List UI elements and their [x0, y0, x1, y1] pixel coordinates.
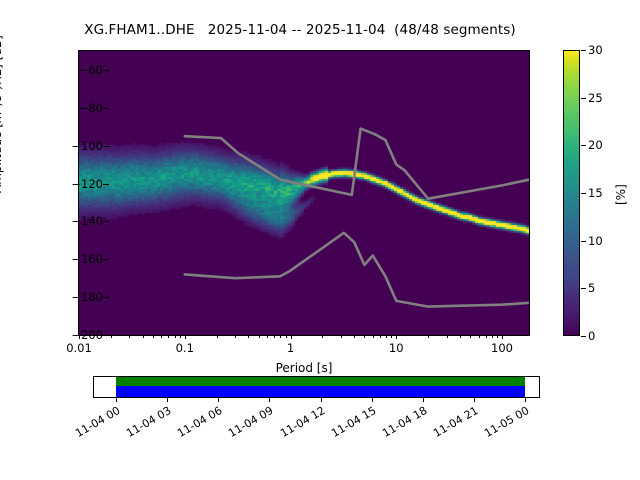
x-axis-minor-tick	[322, 335, 323, 338]
x-axis-minor-tick	[354, 335, 355, 338]
colorbar-tick-label: 25	[588, 91, 603, 105]
x-axis-minor-tick	[217, 335, 218, 338]
colorbar-tick	[581, 145, 586, 146]
y-axis-tick	[103, 146, 109, 147]
colorbar-tick-label: 15	[588, 186, 603, 200]
colorbar-tick	[581, 288, 586, 289]
timeline-tick-label: 11-04 00	[73, 404, 123, 440]
timeline-tick-label: 11-04 09	[226, 404, 276, 440]
x-axis-tick-label: 0.01	[66, 341, 92, 355]
timeline-tick-label: 11-04 21	[431, 404, 481, 440]
x-axis-major-tick	[79, 335, 80, 339]
x-axis-minor-tick	[180, 335, 181, 338]
colorbar-tick	[581, 241, 586, 242]
x-axis-tick-label: 0.1	[176, 341, 194, 355]
y-axis-label: Amplitude [m2/s4/Hz] [dB]	[0, 35, 4, 193]
x-axis-minor-tick	[380, 335, 381, 338]
x-axis-minor-tick	[235, 335, 236, 338]
colorbar-tick-label: 5	[588, 281, 595, 295]
x-axis-minor-tick	[428, 335, 429, 338]
ppsd-axes	[78, 50, 530, 336]
x-axis-minor-tick	[341, 335, 342, 338]
x-axis-minor-tick	[175, 335, 176, 338]
x-axis-minor-tick	[153, 335, 154, 338]
y-axis-tick-label: −80	[79, 101, 103, 115]
colorbar-tick	[581, 50, 586, 51]
plot-title: XG.FHAM1..DHE 2025-11-04 -- 2025-11-04 (…	[0, 22, 600, 38]
x-axis-minor-tick	[386, 335, 387, 338]
x-axis-minor-tick	[259, 335, 260, 338]
y-axis-tick	[103, 184, 109, 185]
y-axis-tick-label: −160	[71, 252, 103, 266]
y-axis-tick-label: −60	[79, 63, 103, 77]
x-axis-major-tick	[291, 335, 292, 339]
x-axis-minor-tick	[470, 335, 471, 338]
timeline-tick	[423, 398, 424, 402]
timeline-coverage-bar	[116, 386, 525, 397]
x-axis-tick-label: 10	[389, 341, 404, 355]
x-axis-minor-tick	[492, 335, 493, 338]
colorbar-tick	[581, 336, 586, 337]
x-axis-minor-tick	[111, 335, 112, 338]
x-axis-tick-label: 1	[287, 341, 294, 355]
x-axis-minor-tick	[280, 335, 281, 338]
timeline-data-bar	[116, 377, 525, 386]
colorbar-tick	[581, 98, 586, 99]
x-axis-minor-tick	[364, 335, 365, 338]
x-axis-minor-tick	[479, 335, 480, 338]
y-axis-tick	[103, 221, 109, 222]
x-axis-tick-label: 100	[491, 341, 513, 355]
timeline-tick-label: 11-04 15	[328, 404, 378, 440]
timeline-tick-label: 11-04 03	[124, 404, 174, 440]
x-axis-minor-tick	[486, 335, 487, 338]
timeline-tick	[218, 398, 219, 402]
x-axis-minor-tick	[460, 335, 461, 338]
timeline-tick-label: 11-04 06	[175, 404, 225, 440]
timeline-tick-label: 11-04 12	[277, 404, 327, 440]
x-axis-minor-tick	[129, 335, 130, 338]
colorbar-tick-label: 0	[588, 329, 595, 343]
x-axis-minor-tick	[267, 335, 268, 338]
colorbar-tick	[581, 193, 586, 194]
timeline-tick	[525, 398, 526, 402]
y-axis-tick-label: −200	[71, 328, 103, 342]
y-axis-tick	[103, 259, 109, 260]
timeline-tick	[167, 398, 168, 402]
y-axis-tick	[103, 297, 109, 298]
y-axis-tick	[103, 108, 109, 109]
timeline-tick	[116, 398, 117, 402]
x-axis-minor-tick	[286, 335, 287, 338]
x-axis-minor-tick	[161, 335, 162, 338]
ppsd-heatmap	[79, 51, 529, 335]
timeline-tick-label: 11-05 00	[482, 404, 532, 440]
x-axis-minor-tick	[274, 335, 275, 338]
x-axis-major-tick	[185, 335, 186, 339]
noise-model-lines	[79, 51, 529, 335]
x-axis-label: Period [s]	[0, 361, 608, 375]
x-axis-minor-tick	[497, 335, 498, 338]
timeline-tick	[372, 398, 373, 402]
timeline-tick-label: 11-04 18	[379, 404, 429, 440]
colorbar-tick-label: 30	[588, 43, 603, 57]
y-axis-tick-label: −120	[71, 177, 103, 191]
y-axis-tick	[103, 335, 109, 336]
colorbar	[563, 50, 580, 336]
y-axis-tick	[103, 70, 109, 71]
ppsd-figure: XG.FHAM1..DHE 2025-11-04 -- 2025-11-04 (…	[0, 0, 640, 480]
colorbar-tick-label: 20	[588, 138, 603, 152]
x-axis-minor-tick	[143, 335, 144, 338]
x-axis-minor-tick	[447, 335, 448, 338]
x-axis-major-tick	[502, 335, 503, 339]
x-axis-minor-tick	[373, 335, 374, 338]
timeline-tick	[321, 398, 322, 402]
timeline-tick	[269, 398, 270, 402]
x-axis-minor-tick	[391, 335, 392, 338]
y-axis-tick-label: −180	[71, 290, 103, 304]
colorbar-label: [%]	[614, 184, 628, 205]
x-axis-minor-tick	[168, 335, 169, 338]
colorbar-tick-label: 10	[588, 234, 603, 248]
y-axis-tick-label: −100	[71, 139, 103, 153]
coverage-timeline	[93, 376, 540, 398]
timeline-tick	[474, 398, 475, 402]
y-axis-tick-label: −140	[71, 214, 103, 228]
x-axis-major-tick	[396, 335, 397, 339]
x-axis-minor-tick	[248, 335, 249, 338]
